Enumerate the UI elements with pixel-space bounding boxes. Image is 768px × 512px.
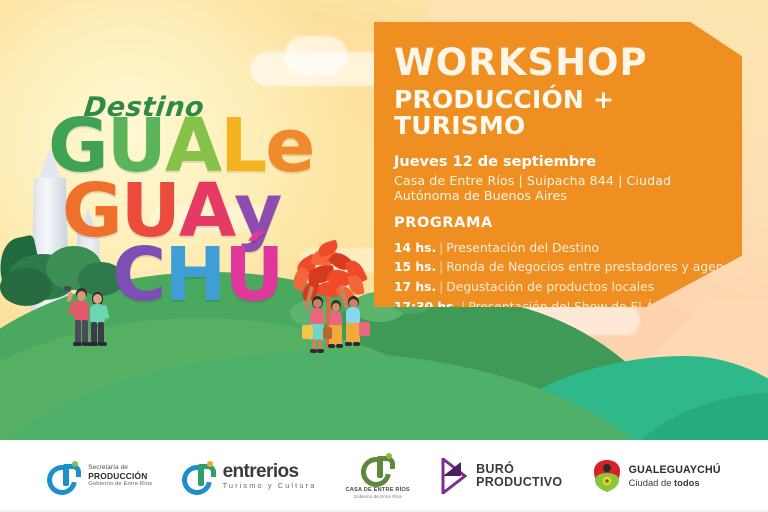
agenda-item: 15 hs.|Ronda de Negocios entre prestador… [394,258,724,278]
logo-line-2: PRODUCCIÓN [88,472,152,481]
flyer-poster: Destino GUALe GUAy CHÚ WORKSHOP PRODUCCI… [0,0,768,512]
person-shoe [98,342,107,346]
gualeguaychu-crest-icon [592,459,622,493]
info-panel: WORKSHOP PRODUCCIÓN + TURISMO Jueves 12 … [374,22,742,307]
person-shoe [328,344,335,348]
person-pants [346,323,360,343]
buro-arrow-icon [439,458,469,494]
entre-rios-er-icon [361,453,395,483]
person-leg [91,322,97,344]
person-shoe [89,342,98,346]
brand-wordmark: GUALe GUAy CHÚ [40,116,370,306]
panel-subtitle: PRODUCCIÓN + TURISMO [394,87,724,140]
person-shoe [345,342,352,346]
person-shoe [336,344,343,348]
person-shoe [73,342,82,346]
logo-text-block: GUALEGUAYCHÚ Ciudad de todos [629,464,721,488]
wordmark-letter: C [112,245,164,306]
person-leg [98,322,104,344]
event-venue: Casa de Entre Ríos | Suipacha 844 | Ciud… [394,173,724,203]
logo-line-2: Ciudad de todos [629,477,721,488]
logo-entrerios-turismo: entrerios Turismo y Cultura [182,461,317,491]
gualeguaychu-crest-svg [592,459,622,493]
person-leg [75,320,81,344]
logo-casa-entre-rios: CASA DE ENTRE RÍOS Gobierno de Entre Río… [346,453,410,499]
logo-line-1: CASA DE ENTRE RÍOS [346,487,410,493]
person-shoe [310,349,317,353]
footer-logo-bar: Secretaría de PRODUCCIÓN Gobierno de Ent… [0,440,768,512]
logo-line-2: PRODUCTIVO [476,476,562,490]
wordmark-letter: Ú [224,245,282,306]
event-date: Jueves 12 de septiembre [394,154,724,170]
agenda-description: Presentación del Destino [446,241,599,255]
person-torso [346,307,360,324]
er-dot-icon [207,461,213,467]
entre-rios-er-icon [182,461,216,491]
logo-buro-productivo: BURÓ PRODUCTIVO [439,458,562,494]
logo-wordmark: entrerios [223,462,317,482]
wordmark-letter: H [164,245,224,306]
programa-heading: PROGRAMA [394,215,724,231]
er-r-glyph [198,464,204,486]
agenda-time: 14 hs. [394,241,436,255]
agenda-description: Degustación de productos locales [446,280,654,294]
logo-line-1: BURÓ [476,463,562,477]
panel-title: WORKSHOP [394,44,724,81]
shopping-bag-icon [359,322,370,336]
wordmark-line-3: CHÚ [112,245,370,306]
agenda-time: 15 hs. [394,260,436,274]
person-shoe [353,342,360,346]
entre-rios-er-icon [47,461,81,491]
er-r-glyph [377,456,383,478]
logo-line-2: Gobierno de Entre Ríos [346,494,410,499]
logo-line-3: Gobierno de Entre Ríos [88,481,152,488]
agenda-time: 17 hs. [394,280,436,294]
logo-tagline: Turismo y Cultura [223,482,317,490]
logo-gualeguaychu-ciudad: GUALEGUAYCHÚ Ciudad de todos [592,459,721,493]
logo-text-block: entrerios Turismo y Cultura [223,462,317,490]
person-torso [329,311,342,326]
logo-line-2-bold: todos [674,477,700,488]
agenda-separator: | [436,241,446,255]
agenda-item: 14 hs.|Presentación del Destino [394,239,724,259]
agenda-separator: | [436,260,446,274]
logo-text-block: Secretaría de PRODUCCIÓN Gobierno de Ent… [88,464,152,487]
logo-line-1: GUALEGUAYCHÚ [629,464,721,477]
wordmark-letter [280,181,304,242]
agenda-separator: | [436,280,446,294]
logo-secretaria-produccion: Secretaría de PRODUCCIÓN Gobierno de Ent… [47,461,152,491]
shopping-bag-icon [302,325,313,339]
person-leg [82,320,88,344]
logo-line-2-pre: Ciudad de [629,477,674,488]
person-shoe [317,349,324,353]
person-torso [310,308,324,325]
er-dot-icon [386,453,392,459]
buro-arrow-svg [439,458,469,494]
logo-text-block: BURÓ PRODUCTIVO [476,463,562,490]
er-r-glyph [63,464,69,486]
logo-text-block: CASA DE ENTRE RÍOS Gobierno de Entre Río… [346,487,410,499]
shopping-bag-icon [323,327,332,339]
